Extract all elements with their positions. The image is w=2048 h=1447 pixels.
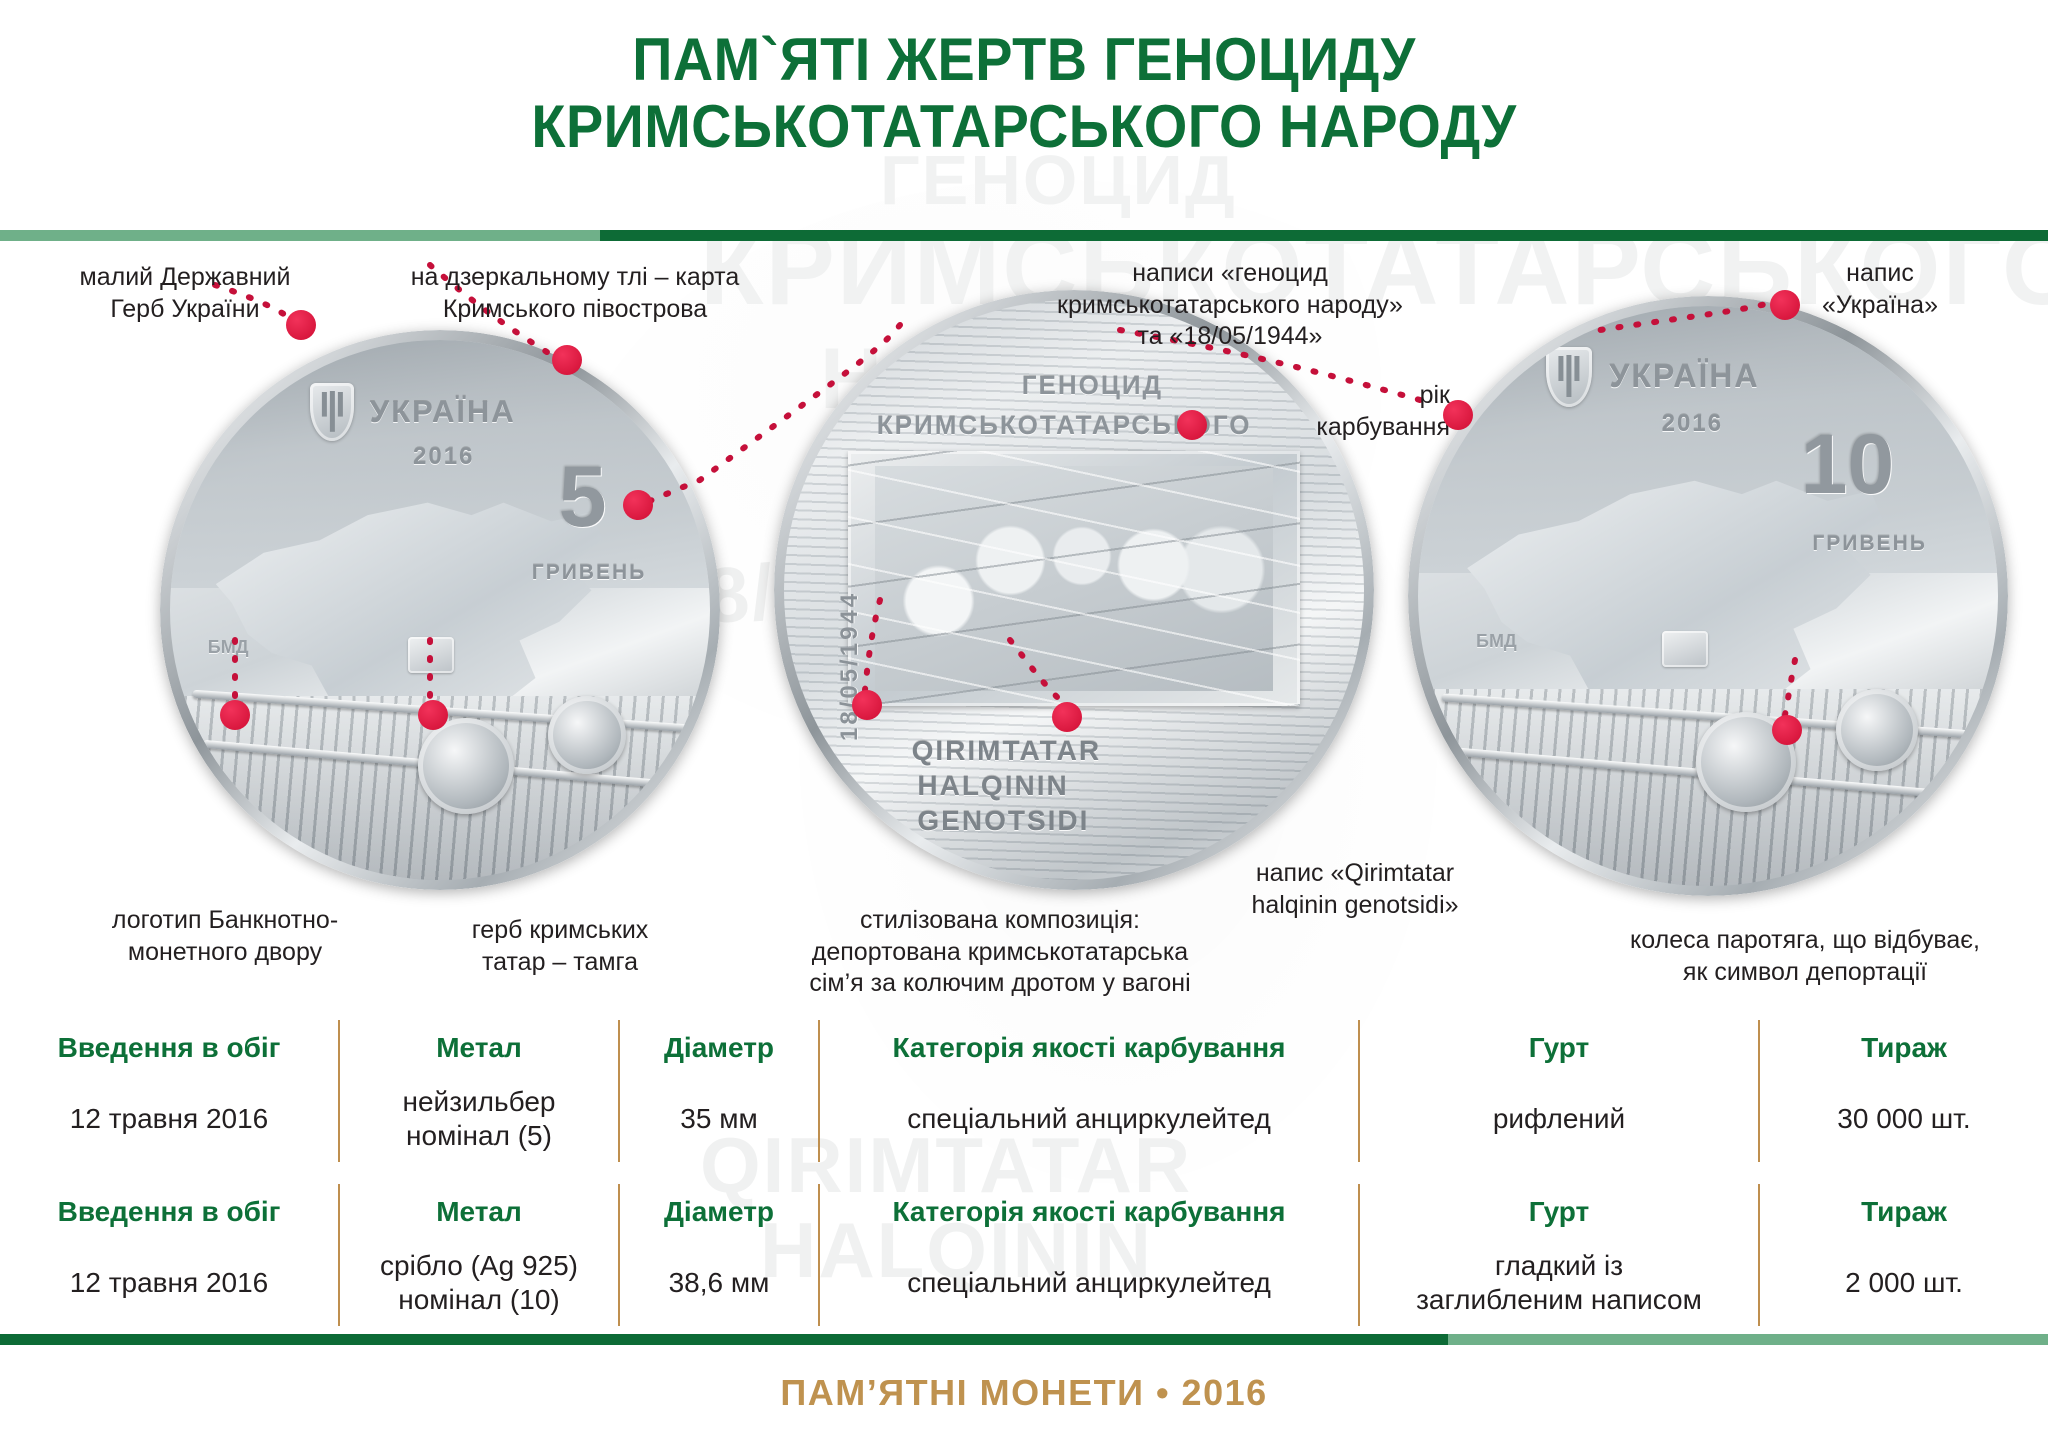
dot-stylized-composition <box>852 690 882 720</box>
callout-tamga: герб кримських татар – тамга <box>420 915 700 978</box>
leader-inscription-qirimtatar <box>1010 640 1060 700</box>
callout-small-coat-of-arms: малий Державний Герб України <box>40 262 330 325</box>
leader-lines <box>0 0 2048 1447</box>
callout-bmd-logo: логотип Банкнотно- монетного двору <box>55 905 395 968</box>
dot-mint-year <box>1443 400 1473 430</box>
leader-inscriptions-genocide <box>640 325 900 505</box>
leader-lines-svg <box>0 0 2048 1447</box>
callout-stylized-composition: стилізована композиція: депортована крим… <box>750 905 1250 1000</box>
callout-inscription-qirimtatar: напис «Qirimtatar halqinin genotsidi» <box>1185 858 1525 921</box>
callout-mint-year: рік карбування <box>1270 380 1450 443</box>
dot-inscription-ukraine <box>1770 290 1800 320</box>
dot-mirror-map <box>552 345 582 375</box>
callout-locomotive-wheels: колеса паротяга, що відбуває, як символ … <box>1580 925 2030 988</box>
dot-coat-of-arms <box>286 310 316 340</box>
dot-inscription-qirimtatar <box>1052 702 1082 732</box>
dot-center-genocide-text <box>623 490 653 520</box>
dot-tamga <box>418 700 448 730</box>
leader-locomotive-wheels <box>1785 660 1795 715</box>
dot-bmd-logo <box>220 700 250 730</box>
dot-inscriptions-genocide <box>1177 410 1207 440</box>
callout-mirror-map: на дзеркальному тлі – карта Кримського п… <box>380 262 770 325</box>
leader-stylized-composition <box>865 600 880 690</box>
callout-inscriptions-genocide: написи «геноцид кримськотатарського наро… <box>1020 258 1440 353</box>
dot-locomotive-wheels <box>1772 715 1802 745</box>
